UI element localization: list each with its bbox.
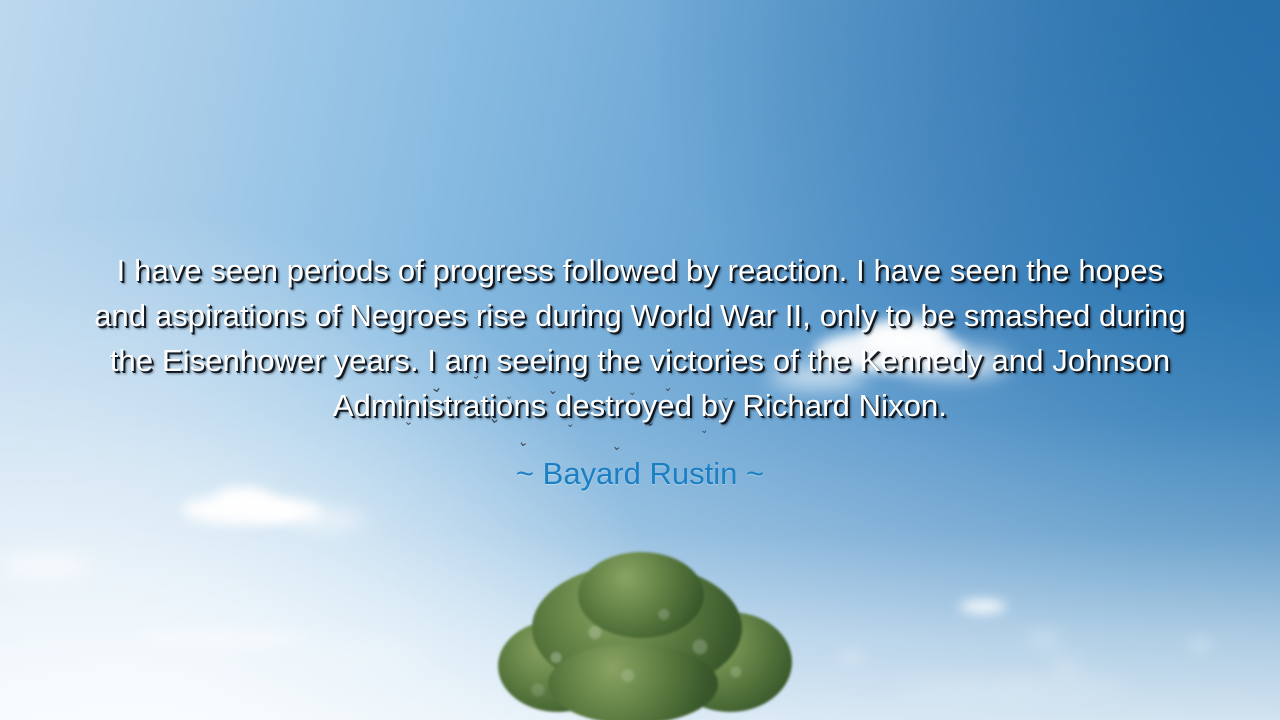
tree-canopy-left (498, 620, 618, 712)
oak-tree (490, 546, 790, 720)
cloud (292, 512, 366, 528)
quote-attribution: ~ Bayard Rustin ~ (90, 454, 1190, 494)
tree-canopy-top (578, 552, 704, 638)
cloud (1188, 640, 1212, 648)
tree-canopy-main (532, 564, 742, 692)
cloud (0, 555, 92, 577)
cloud (840, 652, 862, 660)
cloud (300, 648, 420, 662)
cloud (960, 600, 1006, 613)
tree-trunk (630, 658, 648, 720)
tree-leaf-texture (490, 546, 790, 720)
quote-block: I have seen periods of progress followed… (0, 248, 1280, 494)
tree-canopy-right (668, 612, 792, 712)
tree-canopy-bottom (548, 644, 718, 720)
cloud (140, 630, 310, 648)
quote-image-canvas: I have seen periods of progress followed… (0, 0, 1280, 720)
quote-text: I have seen periods of progress followed… (90, 248, 1190, 428)
tree-foliage (490, 546, 790, 720)
cloud (1000, 682, 1130, 694)
cloud (1055, 662, 1077, 670)
cloud (1030, 636, 1058, 645)
